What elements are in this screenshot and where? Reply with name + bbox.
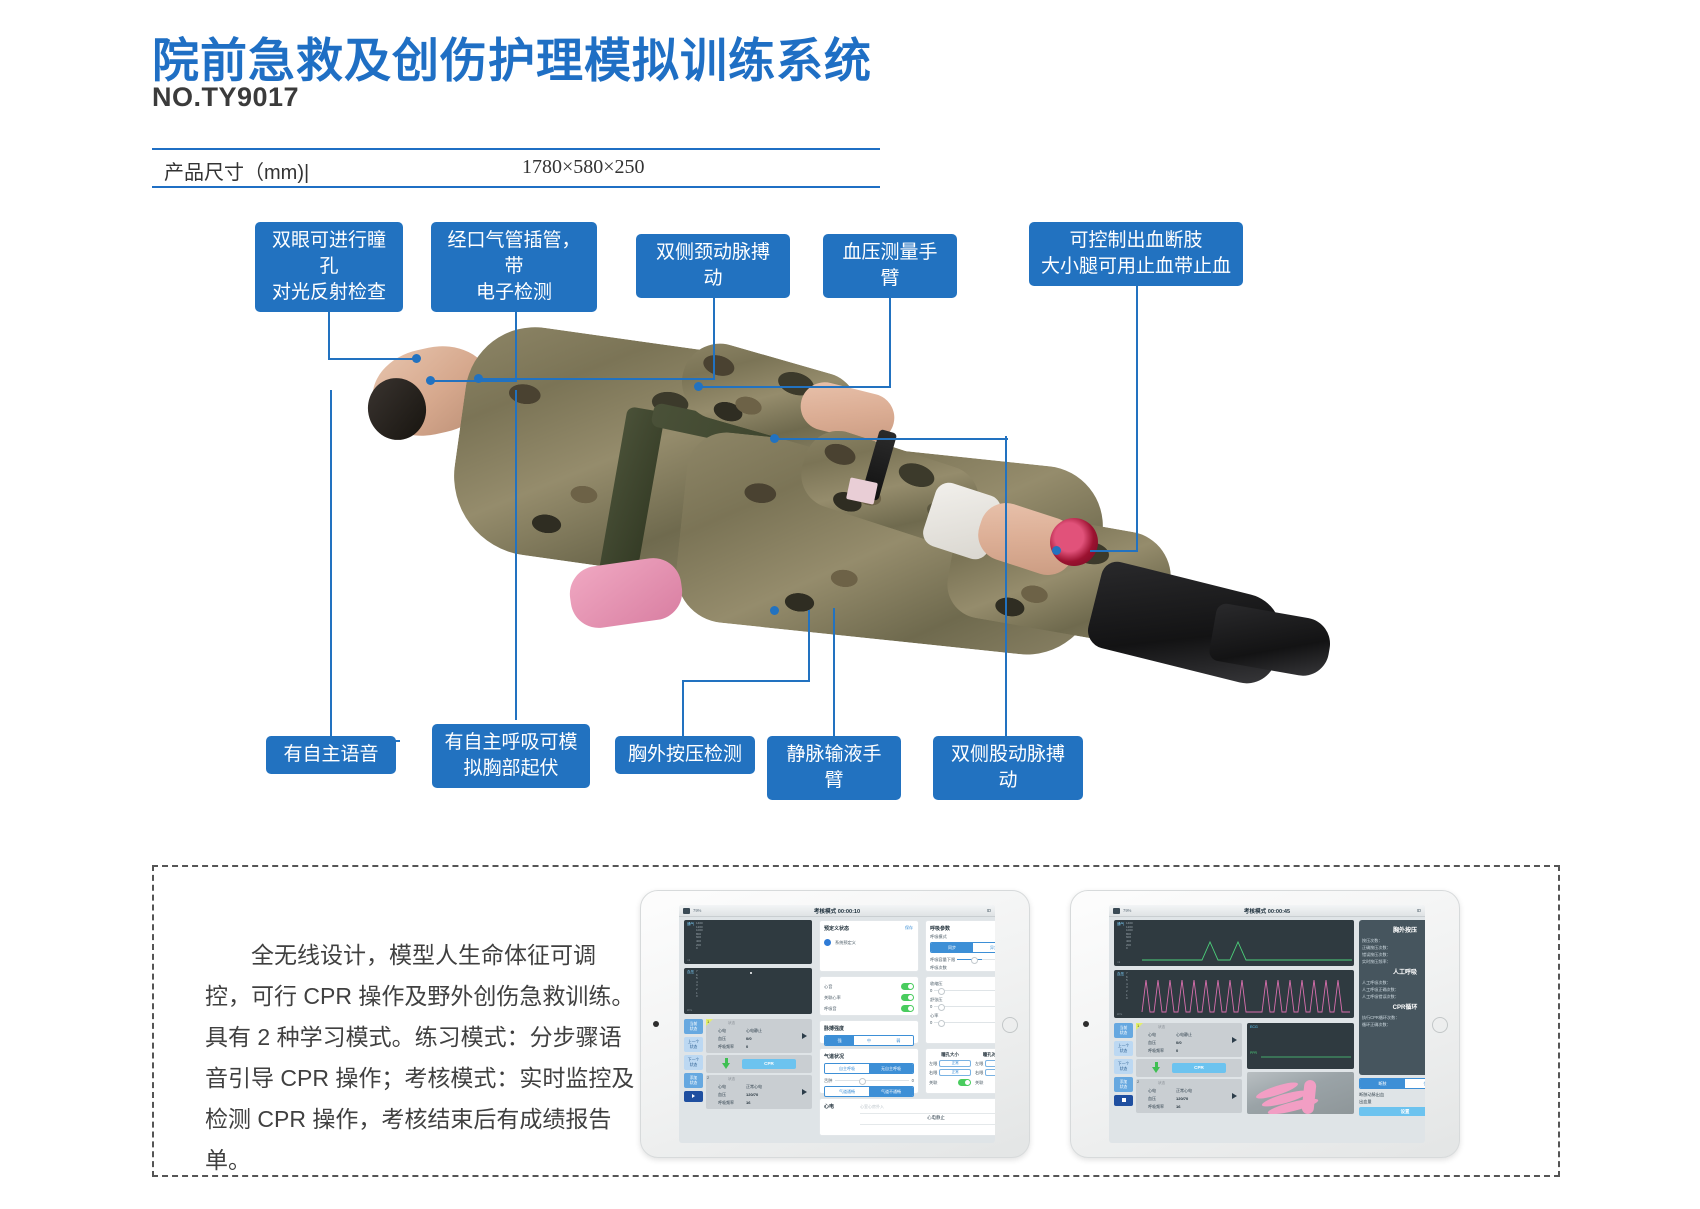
leader-iv-v [833,608,835,740]
breath-volume-label: 呼吸容量下限 [930,957,955,963]
apply-settings-button[interactable]: 设置 [1359,1107,1425,1116]
leader-compress-v [682,680,684,740]
leader-breath-v [515,390,517,720]
leader-femoral-h [776,438,1008,440]
rr-label: 呼吸频率 [1148,1104,1164,1110]
breath-mode-segmented[interactable]: 同步 异步 [930,942,995,953]
tablet-right: 79% 考核模式 00:00:45 co 通气 1400120010008006… [1070,890,1460,1158]
waveform-bloodpressure: 血压 76543210 kPa [1114,970,1354,1018]
cpr-button[interactable]: CPR [742,1059,796,1069]
tablet-camera-icon [1083,1021,1089,1027]
airway-breath-segmented[interactable]: 自主呼吸 无自主呼吸 [824,1063,914,1074]
panel-title: 预定义状态 [824,925,914,932]
brochure-page: 院前急救及创伤护理模拟训练系统 NO.TY9017 产品尺寸（mm)| 1780… [0,0,1700,1209]
toggle-pupil-size-link[interactable] [958,1079,971,1086]
callout-iv-arm[interactable]: 静脉输液手臂 [767,736,901,800]
bluetooth-icon: co [1417,908,1420,914]
hotspot-pupil [412,354,421,363]
pupil-reflex-right-value[interactable]: 无 [985,1069,995,1076]
stat-row: 循环正确次数： 0 次 [1362,1021,1425,1028]
airway-no-spontaneous-option[interactable]: 无自主呼吸 [869,1064,913,1073]
leader-bleed-v [1136,280,1138,550]
button-add-state[interactable]: 添加 状态 [1114,1077,1133,1092]
airway-blocked-option[interactable]: 气道不通畅 [869,1087,913,1096]
callout-bleeding-limb[interactable]: 可控制出血断肢 大小腿可用止血带止血 [1029,222,1243,286]
play-icon[interactable] [1232,1037,1237,1043]
tablet-home-button[interactable] [1002,1017,1018,1033]
manikin-head [364,336,499,445]
breath-mode-sync[interactable]: 同步 [931,943,973,952]
waveform-label: 通气 [687,922,694,927]
tablet-left: 79% 考核模式 00:00:10 co 通气 1400120010008006… [640,890,1030,1158]
sound-row[interactable]: 呼吸音 [824,1003,914,1014]
stat-label: 人工呼吸次数： [1362,979,1391,986]
panel-title: 脉搏强度 [824,1025,914,1032]
pupil-size-left-value[interactable]: 正常 [939,1060,971,1067]
sound-row[interactable]: 关联心率 [824,992,914,1003]
manikin-wound [1050,518,1098,566]
product-description: 全无线设计，模型人生命体征可调控，可行 CPR 操作及野外创伤急救训练。具有 2… [205,935,635,1181]
pupil-size-left-label: 左眼 [929,1061,937,1067]
hotspot-intubation [426,376,435,385]
heartrate-slider[interactable] [934,1019,995,1026]
heartrate-value: 0 [930,1020,932,1025]
callout-femoral[interactable]: 双侧股动脉搏动 [933,736,1083,800]
bp-label: 血压 [1148,1096,1156,1102]
ecg-label: 心电 [1148,1088,1156,1094]
state-card[interactable]: 1 状态 心电 心电静止 血压 0/0 呼吸频率 0 [706,1019,812,1053]
manikin-lower-leg [942,502,1178,651]
mode-timer: 考核模式 00:00:45 [1109,907,1425,915]
spec-row: 产品尺寸（mm)| 1780×580×250 [152,150,880,186]
tablet-left-screen: 79% 考核模式 00:00:10 co 通气 1400120010008006… [679,905,995,1143]
leader-bleed-h [1090,550,1138,552]
state-number: 2 [1137,1079,1139,1084]
spec-table: 产品尺寸（mm)| 1780×580×250 [152,148,880,188]
state-number: 1 [1137,1023,1139,1028]
state-card[interactable]: 1 状态 心电 心电静止 血压 0/0 呼吸频率 0 [1136,1023,1242,1057]
pupil-reflex-title: 瞳孔对光反射 [975,1052,995,1058]
airway-spontaneous-option[interactable]: 自主呼吸 [825,1064,869,1073]
button-add-state[interactable]: 添加 状态 [684,1073,703,1088]
stat-row: 人工呼吸正确次数： 0 次 [1362,986,1425,993]
spec-value: 1780×580×250 [522,156,645,179]
systolic-value: 0 [930,988,932,993]
play-icon[interactable] [1232,1093,1237,1099]
waveform-yaxis: 76543210 [696,970,698,999]
button-play-sequence[interactable] [684,1091,703,1102]
panel-airway: 气道状况 自主呼吸 无自主呼吸 舌肿 0 气道通畅 气道不通畅 [819,1048,919,1094]
pupil-reflex-left-label: 左眼 [975,1061,983,1067]
sound-label: 呼吸音 [824,1006,837,1012]
stat-label: 错误按压次数： [1362,951,1391,958]
bp-value: 120/70 [746,1092,758,1097]
rr-value: 0 [746,1044,748,1049]
button-prev-state[interactable]: 上一个 状态 [1114,1041,1133,1056]
ecg-value: 心电静止 [1176,1032,1192,1038]
button-current-state[interactable]: 当前 状态 [684,1019,703,1034]
ecg-tag: ECG [1250,1025,1258,1029]
flow-label: 出血量 [1359,1099,1372,1105]
pulse-option-medium[interactable]: 中 [854,1036,883,1045]
button-prev-state[interactable]: 上一个 状态 [684,1037,703,1052]
panel-title: 呼吸参数 [930,925,995,932]
tablet-left-body: 通气 1400120010008006004002000 ml 血压 76543… [679,916,995,1143]
airway-clear-option[interactable]: 气道通畅 [825,1087,869,1096]
rr-label: 呼吸频率 [718,1100,734,1106]
button-next-state[interactable]: 下一个 状态 [1114,1059,1133,1074]
systolic-slider[interactable] [934,987,995,994]
waveform-label: 血压 [1117,972,1124,977]
ecg-value: 正常心电 [746,1084,762,1090]
cpr-transition: CPR [706,1055,812,1073]
manikin-photo [350,330,1350,760]
manikin-forearm-stump [971,496,1082,581]
injury-tabs[interactable]: 断肢 伤情 [1359,1078,1425,1089]
ecg-value: 正常心电 [1176,1088,1192,1094]
waveform-yaxis: 1400120010008006004002000 [696,922,703,951]
leader-compress-v2 [808,610,810,682]
toggle-breath-sound[interactable] [901,1005,914,1012]
bp-label: 血压 [718,1092,726,1098]
manikin-belt [597,406,666,590]
ppr-tag: PPR [1250,1051,1257,1055]
pupil-size-right-value[interactable]: 正常 [939,1069,971,1076]
artery-bleed-label: 断肢动脉出血 [1359,1092,1384,1098]
predefined-item[interactable]: 系统预定义 [824,939,914,946]
tab-injury[interactable]: 伤情 [1405,1079,1425,1088]
rr-label: 呼吸频率 [1148,1048,1164,1054]
manikin-torso [444,318,803,590]
stat-label: 执行CPR循环次数： [1362,1014,1399,1021]
bp-value: 0/0 [1176,1040,1182,1045]
leader-voice-v [330,390,332,742]
compression-title: 胸外按压 [1362,925,1425,934]
tongue-swell-slider[interactable] [835,1077,908,1084]
ecg-monitor: ECG PPR [1247,1023,1354,1069]
play-icon[interactable] [802,1033,807,1039]
leader-bp-h [700,386,890,388]
tablet-right-screen: 79% 考核模式 00:00:45 co 通气 1400120010008006… [1109,905,1425,1143]
spec-divider-bottom [152,186,880,188]
ppr-trace [1261,1051,1351,1061]
bp-value: 120/70 [1176,1096,1188,1101]
leader-femoral-v [1005,436,1007,740]
waveform-yaxis: 76543210 [1126,972,1128,1001]
ecg-label: 心电 [718,1084,726,1090]
play-icon[interactable] [802,1089,807,1095]
rib-shape [1301,1079,1316,1114]
stat-label: 正确按压次数： [1362,944,1391,951]
panel-pulse-strength: 脉搏强度 强 中 弱 [819,1020,919,1044]
waveform-unit: kPa [1117,1012,1122,1016]
diastolic-slider[interactable] [934,1003,995,1010]
diastolic-value: 0 [930,1004,932,1009]
pupil-reflex-link-label: 关联 [975,1080,983,1086]
sound-label: 心音 [824,984,832,990]
panel-title: 气道状况 [824,1053,914,1060]
waveform-ventilation: 通气 1400120010008006004002000 ml [684,920,812,964]
state-name: 状态 [728,1021,735,1026]
ecg-selected-value[interactable]: 心电静止 [860,1115,995,1125]
manikin-boot [1084,558,1290,689]
callout-breathing[interactable]: 有自主呼吸可模 拟胸部起伏 [432,724,590,788]
anatomy-preview [1247,1072,1354,1114]
leader-intub-h [430,380,516,382]
pulse-option-strong[interactable]: 强 [825,1036,854,1045]
waveform-label: 血压 [687,970,694,975]
stat-row: 人工呼吸错误次数： 2 次 [1362,993,1425,1000]
callout-carotid[interactable]: 双侧颈动脉搏动 [636,234,790,298]
manikin-tag [846,477,878,504]
stat-label: 实时按压频率： [1362,958,1391,965]
callout-bp-arm[interactable]: 血压测量手臂 [823,234,957,298]
stat-label: 人工呼吸错误次数： [1362,993,1399,1000]
callout-intubation[interactable]: 经口气管插管，带 电子检测 [431,222,597,312]
button-next-state[interactable]: 下一个 状态 [684,1055,703,1070]
stat-row: 人工呼吸次数： 2 次 [1362,979,1425,986]
panel-sounds: 心音 关联心率 呼吸音 [819,976,919,1016]
state-name: 状态 [1158,1025,1165,1030]
ventilation-title: 人工呼吸 [1362,967,1425,976]
manikin-boot-toe [1208,602,1334,680]
callout-voice[interactable]: 有自主语音 [266,736,396,774]
rr-value: 16 [746,1100,750,1105]
down-arrow-icon [1152,1067,1160,1073]
pulse-option-weak[interactable]: 弱 [884,1036,913,1045]
airway-obstruction-segmented[interactable]: 气道通畅 气道不通畅 [824,1086,914,1097]
stat-label: 按压次数： [1362,937,1382,944]
manikin-legs [671,429,1109,662]
mode-timer: 考核模式 00:00:10 [679,907,995,915]
leader-pupil-h [328,358,416,360]
ecg-label: 心电 [718,1028,726,1034]
stat-row: 实时按压频率： 111 次 [1362,958,1425,965]
down-arrow-icon [722,1063,730,1069]
manikin-arm-amputated [792,422,987,552]
sound-label: 关联心率 [824,995,841,1001]
rr-value: 0 [1176,1048,1178,1053]
pupil-size-right-label: 右眼 [929,1070,937,1076]
manikin-hair [362,373,432,446]
panel-predefined-state: 预定义状态 保存 系统预定义 [819,920,919,972]
cpr-transition: CPR [1136,1059,1242,1077]
waveform-unit: ml [1117,960,1120,964]
predefined-item-label: 系统预定义 [835,940,856,946]
panel-cpr-stats: 胸外按压 按压次数： 40 次 正确按压次数： 38 次 错误按压次数： 2 [1359,920,1425,1075]
waveform-yaxis: 1400120010008006004002000 [1126,922,1133,951]
panel-breath-params: 呼吸参数 呼吸模式 同步 异步 呼吸容量下限 100 [925,920,995,972]
pupil-reflex-right-label: 右眼 [975,1070,983,1076]
waveform-bloodpressure: 血压 76543210 kPa [684,968,812,1014]
manikin-hand-gloved [566,555,686,632]
tablet-right-body: 通气 1400120010008006004002000 ml 血压 76543… [1109,916,1425,1143]
stat-row: 正确按压次数： 38 次 [1362,944,1425,951]
page-title: 院前急救及创伤护理模拟训练系统 [152,22,872,91]
pupil-size-link-label: 关联 [929,1080,937,1086]
tongue-swell-label: 舌肿 [824,1078,832,1084]
hotspot-bleeding-limb [1052,546,1061,555]
manikin-bandage [919,479,1004,563]
state-number: 2 [707,1075,709,1080]
toggle-heart-sound[interactable] [901,983,914,990]
hotspot-compression [770,606,779,615]
save-button[interactable]: 保存 [905,925,913,931]
state-card[interactable]: 2 状态 心电 正常心电 血压 120/70 呼吸频率 16 [1136,1079,1242,1113]
ventilation-trace [1142,920,1352,964]
waveform-ventilation: 通气 1400120010008006004002000 ml [1114,920,1354,966]
waveform-unit: ml [687,958,690,962]
panel-injury-controls: 断肢 伤情 断肢动脉出血 出血量 0 设置 [1359,1078,1425,1114]
stat-row: 按压次数： 40 次 [1362,937,1425,944]
rr-value: 16 [1176,1104,1180,1109]
ecg-label: 心电 [1148,1032,1156,1038]
stat-row: 错误按压次数： 2 次 [1362,951,1425,958]
hotspot-carotid [474,374,483,383]
check-circle-icon [824,939,831,946]
ecg-placeholder[interactable]: 心室心房扑入 [860,1104,995,1114]
bp-value: 0/0 [746,1036,752,1041]
bp-label: 血压 [1148,1040,1156,1046]
state-number: 1 [707,1019,709,1024]
leader-compress-h [682,680,810,682]
state-card[interactable]: 2 状态 心电 正常心电 血压 120/70 呼吸频率 16 [706,1075,812,1109]
sound-row[interactable]: 心音 [824,981,914,992]
bp-trace [1140,970,1352,1016]
leader-carotid-h [480,378,714,380]
stat-label: 人工呼吸正确次数： [1362,986,1399,993]
button-current-state[interactable]: 当前 状态 [1114,1023,1133,1038]
breath-mode-label: 呼吸模式 [930,934,995,940]
bp-label: 血压 [718,1036,726,1042]
waveform-unit: kPa [687,1008,692,1012]
tongue-swell-value: 0 [912,1078,914,1083]
tablet-camera-icon [653,1021,659,1027]
panel-vitals: 收缩压 0 0 舒张压 0 0 心率 0 [925,976,995,1044]
state-name: 状态 [728,1077,735,1082]
callout-pupil[interactable]: 双眼可进行瞳孔 对光反射检查 [255,222,403,312]
breath-mode-async[interactable]: 异步 [973,943,995,952]
breath-volume-slider[interactable] [957,956,995,963]
rr-label: 呼吸频率 [718,1044,734,1050]
pupil-reflex-left-value[interactable]: 无 [985,1060,995,1067]
state-name: 状态 [1158,1081,1165,1086]
waveform-label: 通气 [1117,922,1124,927]
bluetooth-icon: co [987,908,990,914]
button-stop-sequence[interactable] [1114,1095,1133,1106]
panel-pupils: 瞳孔大小 左眼 正常 右眼 正常 关联 [925,1048,995,1094]
breath-rate-label: 呼吸次数 [930,965,947,971]
panel-ecg: 心电 心室心房扑入 心电静止 [819,1098,995,1136]
stat-label: 循环正确次数： [1362,1021,1391,1028]
toggle-linked-hr[interactable] [901,994,914,1001]
pupil-size-title: 瞳孔大小 [929,1052,971,1058]
cpr-button[interactable]: CPR [1172,1063,1226,1073]
callout-compression[interactable]: 胸外按压检测 [615,736,755,774]
tab-amputation[interactable]: 断肢 [1360,1079,1405,1088]
spec-key: 产品尺寸（mm)| [164,156,309,185]
model-number: NO.TY9017 [152,82,299,113]
tablet-home-button[interactable] [1432,1017,1448,1033]
ecg-value: 心电静止 [746,1028,762,1034]
cpr-cycle-title: CPR循环 [1362,1002,1425,1011]
stat-row: 执行CPR循环次数： 2 次 [1362,1014,1425,1021]
pulse-strength-segmented[interactable]: 强 中 弱 [824,1035,914,1046]
